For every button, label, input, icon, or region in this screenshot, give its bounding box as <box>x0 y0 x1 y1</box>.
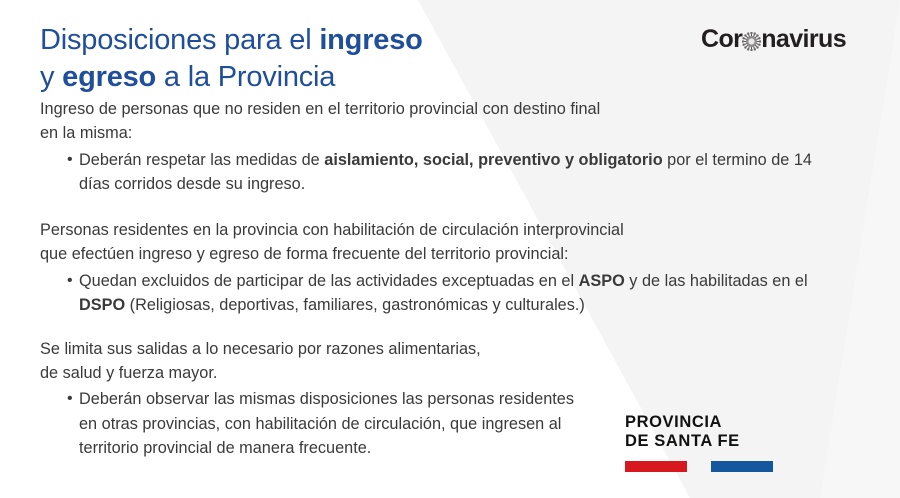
section-2-bullets: Quedan excluidos de participar de las ac… <box>40 269 840 318</box>
section-3-bullets: Deberán observar las mismas disposicione… <box>40 387 585 460</box>
section-3-intro-line-1: Se limita sus salidas a lo necesario por… <box>40 337 840 361</box>
section-2-bullet-1-mid: y de las habilitadas en el <box>625 272 808 290</box>
section-divider-1 <box>40 197 840 218</box>
slide-canvas: Disposiciones para el ingreso y egreso a… <box>0 0 900 498</box>
section-2-bullet-1-plain-end: (Religiosas, deportivas, familiares, gas… <box>125 296 585 314</box>
list-item: Deberán respetar las medidas de aislamie… <box>67 148 840 197</box>
section-2-bullet-1-plain-start: Quedan excluidos de participar de las ac… <box>79 272 579 290</box>
coronavirus-logo-text-before: Cor <box>701 27 742 52</box>
section-1-intro-line-2: en la misma: <box>40 121 840 145</box>
body-text: Ingreso de personas que no residen en el… <box>40 97 840 461</box>
slide-content: Disposiciones para el ingreso y egreso a… <box>0 0 900 498</box>
santafe-logo-bars <box>625 461 775 472</box>
section-1-intro-line-1: Ingreso de personas que no residen en el… <box>40 97 840 121</box>
section-2-intro: Personas residentes en la provincia con … <box>40 218 840 267</box>
section-2-intro-line-2: que efectúen ingreso y egreso de forma f… <box>40 242 840 266</box>
page-title-line1-bold: ingreso <box>319 24 422 56</box>
section-3-intro: Se limita sus salidas a lo necesario por… <box>40 337 840 386</box>
santafe-logo-text: PROVINCIA DE SANTA FE <box>625 413 775 452</box>
page-title-line2-plain-start: y <box>40 61 62 93</box>
page-title: Disposiciones para el ingreso y egreso a… <box>40 22 600 96</box>
list-item: Deberán observar las mismas disposicione… <box>67 387 585 460</box>
santafe-logo-bar-red <box>625 461 687 472</box>
santafe-logo: PROVINCIA DE SANTA FE <box>625 413 775 472</box>
section-3-intro-line-2: de salud y fuerza mayor. <box>40 361 840 385</box>
list-item: Quedan excluidos de participar de las ac… <box>67 269 840 318</box>
page-title-line2-plain-end: a la Provincia <box>156 61 335 93</box>
section-2-bullet-1-bold-dspo: DSPO <box>79 296 125 314</box>
section-1-intro: Ingreso de personas que no residen en el… <box>40 97 840 146</box>
coronavirus-logo: Cor <box>701 27 846 52</box>
section-3-bullet-1-text: Deberán observar las mismas disposicione… <box>79 390 574 457</box>
section-1-bullets: Deberán respetar las medidas de aislamie… <box>40 148 840 197</box>
page-title-line2-bold: egreso <box>62 61 156 93</box>
section-1-bullet-1-bold: aislamiento, social, preventivo y obliga… <box>324 151 662 169</box>
santafe-logo-bar-blue <box>711 461 773 472</box>
coronavirus-particle-icon <box>742 31 761 50</box>
section-1-bullet-1-plain-start: Deberán respetar las medidas de <box>79 151 324 169</box>
section-divider-2 <box>40 318 840 337</box>
coronavirus-logo-text-after: navirus <box>761 27 846 52</box>
section-2-bullet-1-bold-aspo: ASPO <box>579 272 625 290</box>
page-title-line1-plain: Disposiciones para el <box>40 24 319 56</box>
section-2-intro-line-1: Personas residentes en la provincia con … <box>40 218 840 242</box>
